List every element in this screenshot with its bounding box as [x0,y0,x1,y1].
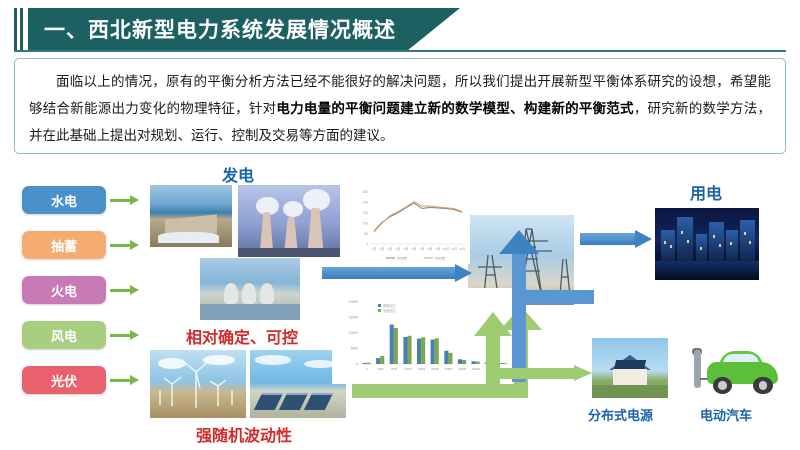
label-distributed-generation: 分布式电源 [588,405,653,424]
page-title: 一、西北新型电力系统发展情况概述 [44,14,396,44]
svg-text:100: 100 [363,221,369,225]
svg-text:3月: 3月 [388,247,393,251]
electric-car-charging-photo [690,342,786,400]
svg-text:4月: 4月 [396,247,401,251]
svg-text:200: 200 [363,201,369,205]
label-consumption: 用电 [690,180,722,204]
power-system-diagram: 水电 抽蓄 火电 风电 光伏 发电 用电 相对确定、可控 强随机波动性 分布式电… [0,160,800,450]
title-banner-shape: 一、西北新型电力系统发展情况概述 [28,8,460,50]
svg-text:2019年: 2019年 [397,255,408,260]
hydro-dam-photo [150,185,232,247]
green-arrow-icon-up-to-grid [474,312,514,398]
label-strong-volatility: 强随机波动性 [196,422,292,446]
svg-text:12月: 12月 [459,247,465,251]
source-box-pumped-storage[interactable]: 抽蓄 [22,231,106,259]
body-text-box: 面临以上的情况，原有的平衡分析方法已经不能很好的解决问题，所以我们提出开展新型平… [14,58,786,154]
title-accent-bars [14,8,28,50]
svg-text:11月: 11月 [451,247,457,251]
slide-title-banner: 一、西北新型电力系统发展情况概述 [14,8,474,50]
title-underline [14,50,786,52]
green-arrow-icon-pumped-storage [110,240,140,250]
svg-text:2020年: 2020年 [435,255,446,260]
green-arrow-icon-thermal [110,285,140,295]
svg-text:2月: 2月 [380,247,385,251]
svg-text:9月: 9月 [436,247,441,251]
svg-text:20000: 20000 [349,300,359,304]
body-part-1: 电力电量的平衡问题建立新的数学模型、构建新的平衡范式 [276,101,633,116]
label-electric-vehicle: 电动汽车 [700,405,752,424]
source-box-solar[interactable]: 光伏 [22,366,106,394]
svg-text:150: 150 [363,211,369,215]
wind-farm-photo [150,350,246,418]
thermal-cooling-towers-photo [238,185,340,257]
label-stable-controllable: 相对确定、可控 [186,324,298,348]
city-night-skyline-photo [655,208,759,280]
source-box-hydro[interactable]: 水电 [22,186,106,214]
label-generation: 发电 [222,162,254,186]
green-arrow-icon-wind [110,330,140,340]
svg-text:7月: 7月 [420,247,425,251]
body-paragraph: 面临以上的情况，原有的平衡分析方法已经不能很好的解决问题，所以我们提出开展新型平… [29,68,771,149]
green-arrow-icon-solar [110,375,140,385]
svg-text:250: 250 [363,190,369,194]
svg-text:0: 0 [366,242,368,246]
green-arrow-icon-hydro [110,195,140,205]
slide-root: 一、西北新型电力系统发展情况概述 面临以上的情况，原有的平衡分析方法已经不能很好… [0,0,800,450]
svg-text:6月: 6月 [412,247,417,251]
blue-arrow-icon-l-shaped [512,230,604,382]
svg-text:1月: 1月 [372,247,377,251]
svg-text:5月: 5月 [404,247,409,251]
blue-arrow-icon-to-grid [322,264,472,282]
nuclear-plant-photo [200,258,300,320]
svg-text:10月: 10月 [443,247,449,251]
green-arrow-icon-to-distributed [500,365,596,381]
svg-text:8月: 8月 [428,247,433,251]
source-box-wind[interactable]: 风电 [22,321,106,349]
svg-text:50: 50 [364,232,368,236]
generation-line-chart: 050100150200250 1月2月3月4月5月6月7月8月9月10月11月… [352,182,470,264]
source-box-thermal[interactable]: 火电 [22,276,106,304]
line-chart-svg: 050100150200250 1月2月3月4月5月6月7月8月9月10月11月… [352,182,470,264]
